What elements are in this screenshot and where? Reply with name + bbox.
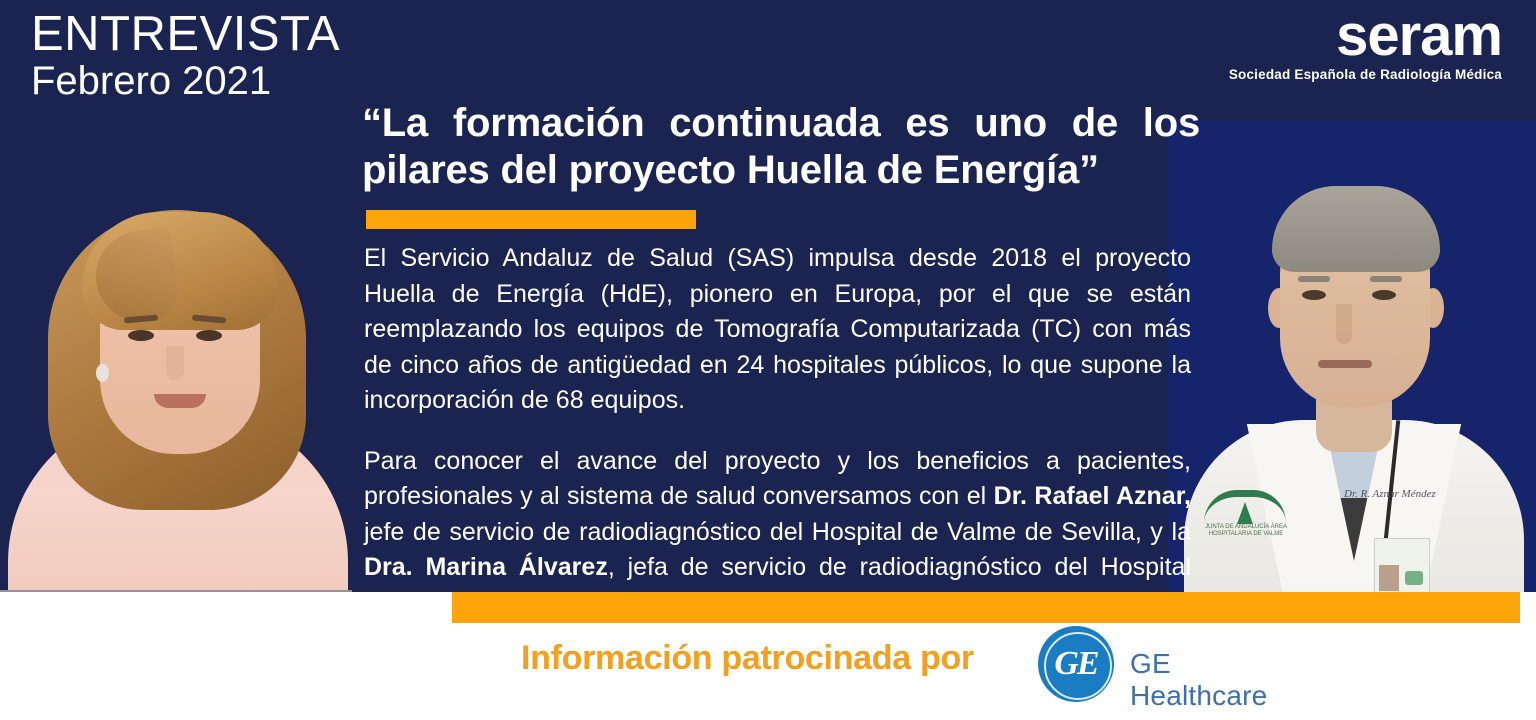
portrait-right-eye-right xyxy=(1372,290,1396,300)
junta-logo-text: JUNTA DE ANDALUCÍA ÁREA HOSPITALARIA DE … xyxy=(1200,524,1292,538)
ge-monogram-letters: GE xyxy=(1038,626,1114,702)
portrait-right-hair xyxy=(1272,186,1440,272)
seram-logo: seram Sociedad Española de Radiología Mé… xyxy=(1229,6,1502,83)
body-paragraph-1: El Servicio Andaluz de Salud (SAS) impul… xyxy=(364,241,1191,419)
headline-line-1: “La formación continuada es uno de los xyxy=(362,100,1200,147)
id-badge-photo xyxy=(1379,565,1399,591)
body-paragraph-2-text-2: jefe de servicio de radiodiagnóstico del… xyxy=(364,518,1191,546)
page-title: “La formación continuada es uno de los p… xyxy=(362,100,1200,194)
headline-line-2: pilares del proyecto Huella de Energía” xyxy=(362,147,1200,194)
portrait-left-marina-alvarez xyxy=(0,92,352,593)
portrait-right-mouth xyxy=(1318,360,1372,368)
sponsor-label: Información patrocinada por xyxy=(521,638,974,678)
junta-triangle-icon xyxy=(1237,502,1253,524)
sponsor-row: Información patrocinada por GE GE Health… xyxy=(0,630,1536,720)
seram-wordmark: seram xyxy=(1229,6,1502,66)
ge-healthcare-name: GE Healthcare xyxy=(1130,648,1267,712)
orange-accent-bar xyxy=(366,210,696,229)
portrait-left-eye-left xyxy=(128,330,154,341)
body-doctor-name-2: Dra. Marina Álvarez xyxy=(364,553,608,581)
id-badge-emblem-icon xyxy=(1405,571,1423,585)
coat-embroidery-name: Dr. R. Aznar Méndez xyxy=(1344,488,1436,500)
article-body: El Servicio Andaluz de Salud (SAS) impul… xyxy=(364,241,1191,621)
ge-monogram-icon: GE xyxy=(1038,626,1114,702)
body-doctor-name-1: Dr. Rafael Aznar, xyxy=(994,482,1191,510)
seram-tagline: Sociedad Española de Radiología Médica xyxy=(1229,67,1502,83)
junta-de-andalucia-logo: JUNTA DE ANDALUCÍA ÁREA HOSPITALARIA DE … xyxy=(1204,490,1286,538)
portrait-right-id-badge xyxy=(1374,538,1430,593)
portrait-right-brow-right xyxy=(1370,276,1402,282)
portrait-left-nose xyxy=(166,346,184,380)
portrait-left-earring xyxy=(96,364,109,382)
portrait-left-mouth xyxy=(154,394,206,408)
interview-poster: Dr. R. Aznar Méndez JUNTA DE ANDALUCÍA Á… xyxy=(0,0,1536,720)
portrait-right-rafael-aznar: Dr. R. Aznar Méndez JUNTA DE ANDALUCÍA Á… xyxy=(1168,120,1536,593)
portrait-right-brow-left xyxy=(1298,276,1330,282)
portrait-left-eye-right xyxy=(196,330,222,341)
kicker-date: Febrero 2021 xyxy=(31,58,340,104)
kicker-entrevista: ENTREVISTA xyxy=(31,8,340,60)
portrait-right-eye-left xyxy=(1302,290,1326,300)
header-kicker-block: ENTREVISTA Febrero 2021 xyxy=(31,8,340,104)
portrait-right-nose xyxy=(1336,304,1352,344)
footer-orange-bar xyxy=(452,592,1520,623)
